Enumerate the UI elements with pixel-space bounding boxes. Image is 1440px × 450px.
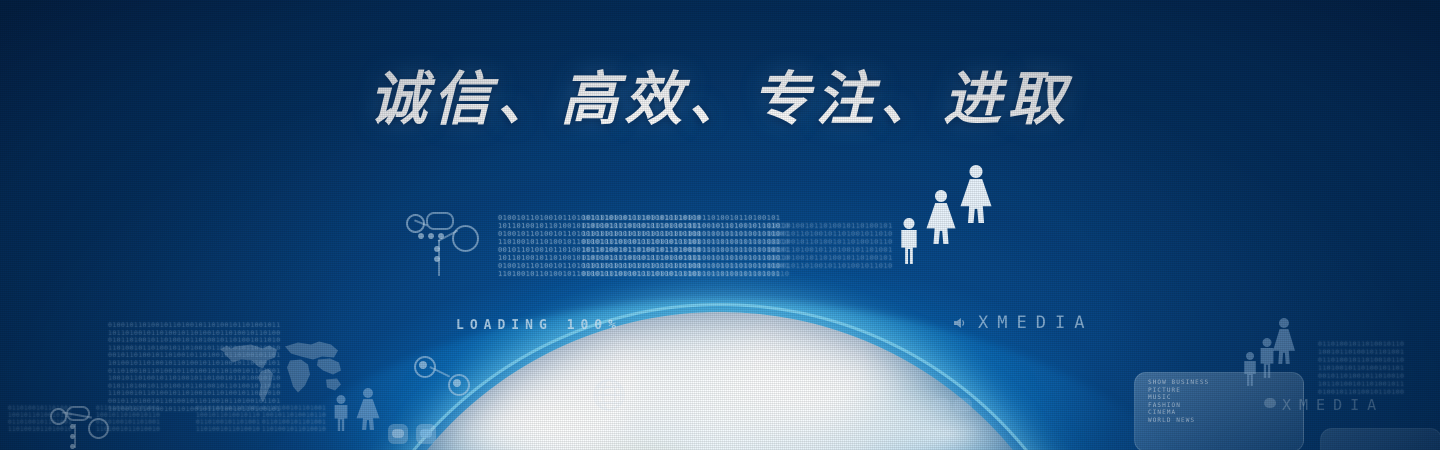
brand-label-right: XMEDIA: [1282, 396, 1384, 414]
person-icon-left-small: [330, 395, 352, 431]
binary-block-right: 01101001011010010110 1001011010010110100…: [1318, 340, 1404, 396]
volume-icon: [952, 316, 968, 330]
node-pill-left: [66, 406, 90, 421]
binary-block-d: 101101001011010010110100101 010010110100…: [768, 222, 893, 270]
node-ring-center-2: [452, 225, 479, 252]
binary-block-bottom-left-3: 0110100101101001 1001011010010110 011010…: [196, 405, 260, 433]
secondary-panel-right[interactable]: [1320, 428, 1440, 450]
node-ring-center-1: [406, 214, 425, 233]
person-icon-center-medium: [926, 190, 956, 244]
media-panel-chip: [1264, 398, 1276, 408]
node-dot-center-1: [418, 233, 424, 239]
person-icon-right-large: [1272, 318, 1296, 364]
hud-chip-globe-1: [932, 398, 950, 412]
node-dot-lower-1: [419, 361, 427, 369]
binary-block-bottom-left-4: 0110100101101001 1001011010010110 011010…: [262, 405, 326, 433]
brand-word-right: MEDIA: [1299, 396, 1384, 414]
chat-bubble-chip-2: [416, 424, 436, 444]
node-dot-left-2: [70, 434, 75, 439]
node-ring-left-2: [88, 418, 109, 439]
earth-overlay-text: WORLD DIGITAL NETWORK: [640, 374, 681, 401]
node-dot-center-3: [438, 233, 444, 239]
hud-chip-globe-2: [954, 398, 972, 412]
node-dot-center-2: [428, 233, 434, 239]
binary-block-left: 0100101101001011010010110100101101001011…: [108, 322, 281, 413]
chat-bubble-chip-1: [388, 424, 408, 444]
person-icon-left-medium: [356, 388, 380, 430]
loading-label: LOADING 100%: [456, 318, 622, 333]
node-dot-center-4: [434, 246, 440, 252]
globe-grid-icon: [592, 378, 626, 412]
node-dot-lower-2: [453, 379, 461, 387]
brand-x-glyph: X: [978, 313, 997, 333]
node-pill-center: [426, 212, 454, 230]
brand-word: MEDIA: [997, 313, 1093, 333]
node-dot-left-1: [70, 424, 75, 429]
page-title: 诚信、高效、专注、进取: [0, 52, 1440, 136]
node-dot-left-3: [70, 444, 75, 449]
media-categories-text: SHOW BUSINESS PICTURE MUSIC FASHION CINE…: [1148, 379, 1209, 424]
brand-x-glyph-right: X: [1282, 396, 1299, 414]
person-icon-center-large: [960, 165, 992, 223]
node-dot-center-5: [434, 256, 440, 262]
brand-label-center: XMEDIA: [978, 313, 1093, 333]
node-ring-left-1: [50, 408, 67, 425]
person-icon-center-small: [896, 218, 922, 264]
hero-banner: 诚信、高效、专注、进取 0100101101001011010010110100…: [0, 0, 1440, 450]
